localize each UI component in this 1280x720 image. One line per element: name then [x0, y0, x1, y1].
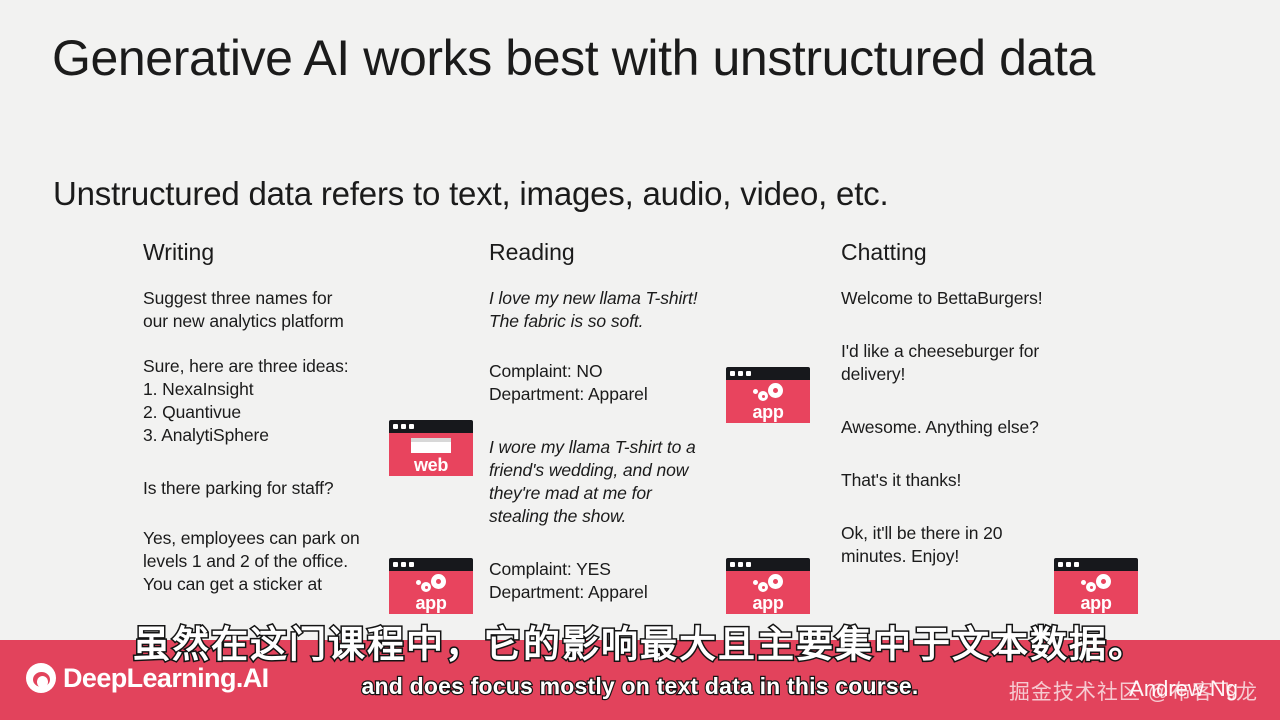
- column-chatting: Chatting Welcome to BettaBurgers! I'd li…: [841, 238, 1161, 590]
- badge-label: app: [752, 594, 783, 613]
- message-line: Ok, it'll be there in 20: [841, 522, 1161, 545]
- message-line: I love my new llama T-shirt!: [489, 287, 819, 310]
- badge-titlebar: [389, 558, 473, 571]
- message-block: I love my new llama T-shirt! The fabric …: [489, 287, 819, 333]
- message-line: Yes, employees can park on: [143, 527, 483, 550]
- slide-canvas: Generative AI works best with unstructur…: [0, 0, 1280, 720]
- badge-body: web: [389, 433, 473, 476]
- badge-label: app: [415, 594, 446, 613]
- message-line: Welcome to BettaBurgers!: [841, 287, 1161, 310]
- badge-body: app: [1054, 571, 1138, 614]
- badge-label: app: [752, 403, 783, 422]
- message-line: Is there parking for staff?: [143, 477, 483, 500]
- badge-body: app: [389, 571, 473, 614]
- column-heading-writing: Writing: [143, 238, 483, 266]
- message-line: I wore my llama T-shirt to a: [489, 436, 819, 459]
- gears-icon: [415, 574, 451, 594]
- message-line: Awesome. Anything else?: [841, 416, 1161, 439]
- message-line: our new analytics platform: [143, 310, 483, 333]
- badge-body: app: [726, 571, 810, 614]
- column-heading-reading: Reading: [489, 238, 819, 266]
- gears-icon: [752, 574, 788, 594]
- subtitle-chinese: 虽然在这门课程中，它的影响最大且主要集中于文本数据。: [0, 624, 1280, 666]
- message-line: The fabric is so soft.: [489, 310, 819, 333]
- message-block: I'd like a cheeseburger for delivery!: [841, 340, 1161, 386]
- badge-web: web: [389, 420, 473, 476]
- badge-titlebar: [389, 420, 473, 433]
- message-line: stealing the show.: [489, 505, 819, 528]
- message-line: I'd like a cheeseburger for: [841, 340, 1161, 363]
- message-line: That's it thanks!: [841, 469, 1161, 492]
- badge-label: app: [1080, 594, 1111, 613]
- page-subtitle: Unstructured data refers to text, images…: [53, 174, 1173, 214]
- message-line: delivery!: [841, 363, 1161, 386]
- badge-app: app: [389, 558, 473, 614]
- subtitle-english: and does focus mostly on text data in th…: [0, 673, 1280, 700]
- message-block: Is there parking for staff?: [143, 477, 483, 500]
- badge-label: web: [414, 456, 448, 475]
- message-line: friend's wedding, and now: [489, 459, 819, 482]
- column-heading-chatting: Chatting: [841, 238, 1161, 266]
- gears-icon: [1080, 574, 1116, 594]
- message-block: That's it thanks!: [841, 469, 1161, 492]
- message-line: 1. NexaInsight: [143, 378, 483, 401]
- message-block: I wore my llama T-shirt to a friend's we…: [489, 436, 819, 528]
- badge-body: app: [726, 380, 810, 423]
- badge-titlebar: [726, 558, 810, 571]
- message-line: they're mad at me for: [489, 482, 819, 505]
- page-title: Generative AI works best with unstructur…: [52, 32, 1142, 85]
- gears-icon: [752, 383, 788, 403]
- badge-app: app: [726, 367, 810, 423]
- badge-titlebar: [726, 367, 810, 380]
- message-block: Suggest three names for our new analytic…: [143, 287, 483, 333]
- badge-app: app: [1054, 558, 1138, 614]
- badge-titlebar: [1054, 558, 1138, 571]
- message-line: Sure, here are three ideas:: [143, 355, 483, 378]
- badge-app: app: [726, 558, 810, 614]
- column-body-reading: I love my new llama T-shirt! The fabric …: [489, 287, 819, 604]
- message-block: Awesome. Anything else?: [841, 416, 1161, 439]
- message-line: Suggest three names for: [143, 287, 483, 310]
- message-block: Welcome to BettaBurgers!: [841, 287, 1161, 310]
- browser-window-icon: [411, 438, 451, 453]
- column-body-chatting: Welcome to BettaBurgers! I'd like a chee…: [841, 287, 1161, 568]
